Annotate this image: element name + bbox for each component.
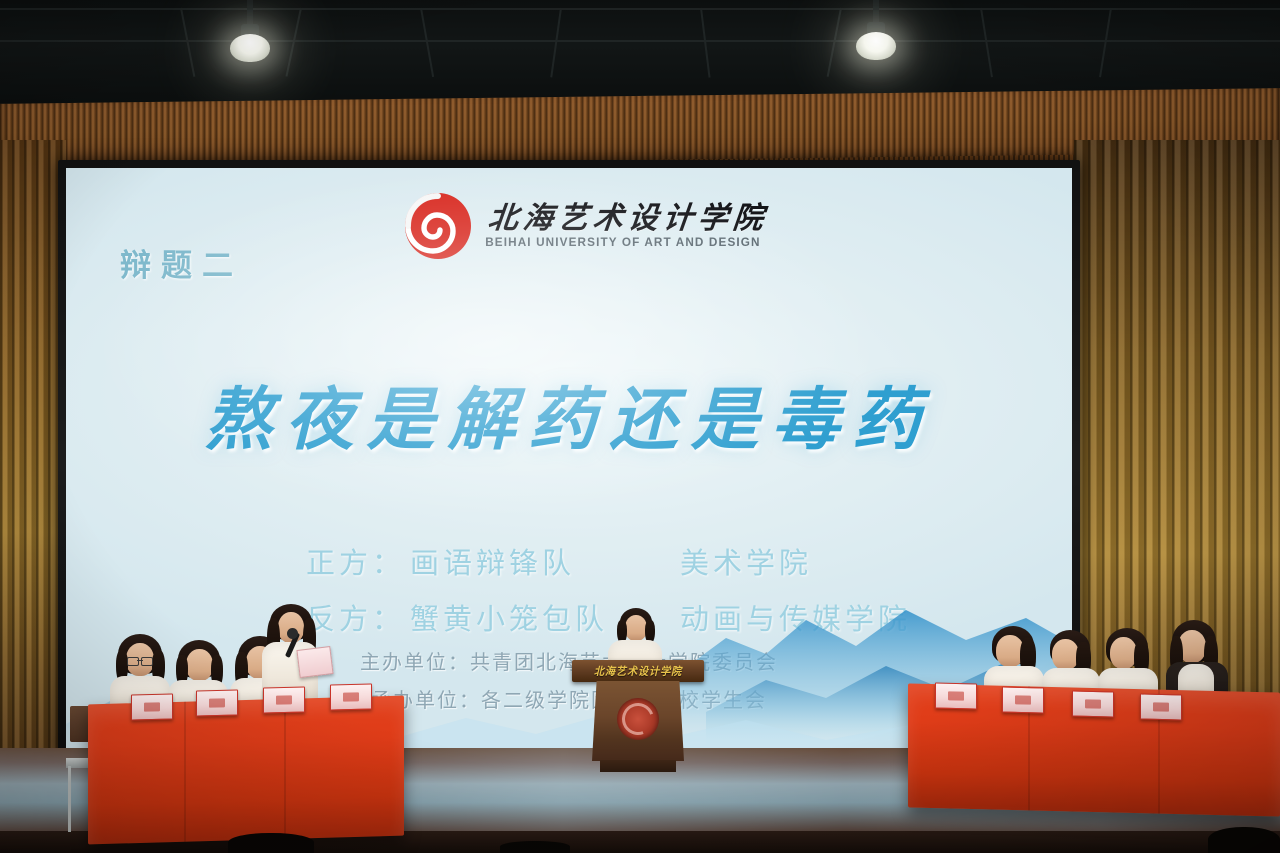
speaking-podium: 北海艺术设计学院: [586, 660, 690, 772]
logo-name-cn: 北海艺术设计学院: [486, 203, 769, 235]
podium-swirl-emblem-icon: [617, 698, 659, 740]
name-card: [131, 693, 173, 720]
pendant-light-left: [228, 0, 272, 66]
name-card: [1002, 686, 1044, 713]
team-name: 画语辩锋队: [410, 540, 680, 582]
podium-sign-text: 北海艺术设计学院: [594, 663, 682, 679]
audience-silhouette: [1208, 827, 1280, 853]
audience-silhouette: [500, 841, 570, 853]
logo-name-en: BEIHAI UNIVERSITY OF ART AND DESIGN: [485, 237, 771, 249]
speech-paper: [296, 646, 333, 678]
name-card: [263, 686, 305, 713]
team-college: 动画与传媒学院: [680, 596, 1006, 638]
name-card: [1140, 693, 1182, 720]
audience-silhouette: [228, 833, 314, 853]
eyeglasses-icon: [127, 657, 153, 664]
podium-sign: 北海艺术设计学院: [572, 660, 704, 682]
team-row-pro: 正方： 画语辩锋队 美术学院: [306, 540, 1006, 582]
stage-curtain-left: [0, 140, 66, 853]
pendant-light-right: [854, 0, 898, 64]
stage-scene: 北海艺术设计学院 BEIHAI UNIVERSITY OF ART AND DE…: [0, 0, 1280, 853]
university-logo: 北海艺术设计学院 BEIHAI UNIVERSITY OF ART AND DE…: [402, 190, 768, 262]
team-side-label: 正方：: [306, 540, 410, 582]
slide-topic-label: 辩题二: [120, 240, 243, 285]
name-card: [330, 683, 372, 710]
name-card: [196, 689, 238, 716]
name-card: [935, 682, 977, 709]
swirl-emblem-icon: [402, 190, 474, 262]
slide-debate-title: 熬夜是解药还是毒药: [66, 386, 1072, 454]
team-college: 美术学院: [680, 540, 1006, 582]
name-card: [1072, 690, 1114, 717]
microphone-head-icon: [287, 628, 298, 639]
